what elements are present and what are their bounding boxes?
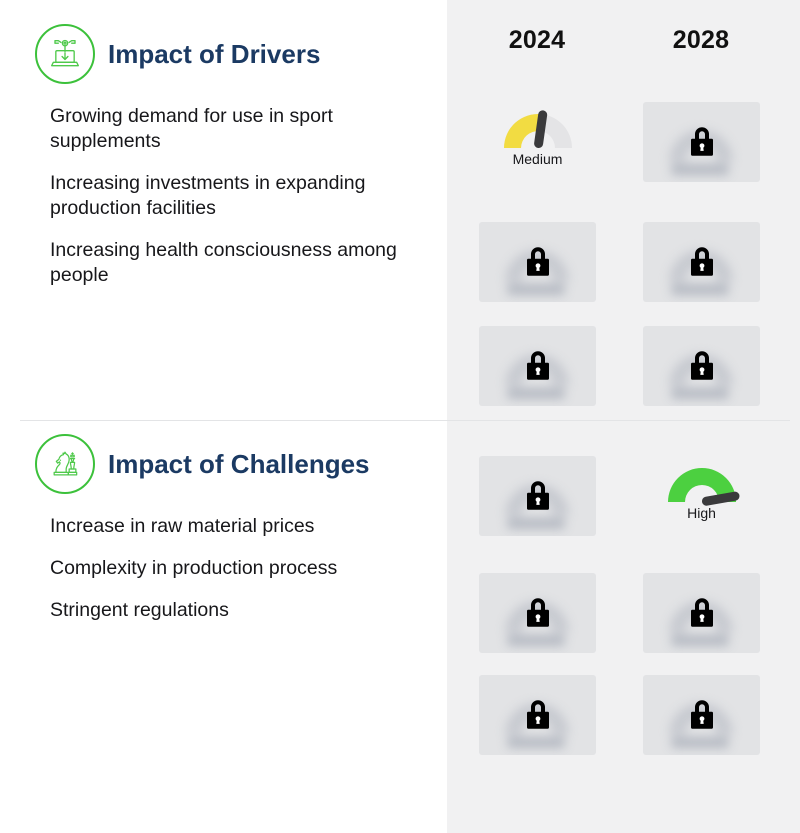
section-divider — [20, 420, 790, 421]
lock-icon — [685, 593, 719, 631]
list-item: Stringent regulations — [50, 598, 405, 623]
gauge-medium: Medium — [479, 102, 596, 182]
cell-drivers-2-2024[interactable] — [479, 326, 596, 406]
production-download-icon — [35, 24, 95, 84]
gauge-high: High — [643, 456, 760, 536]
list-item: Growing demand for use in sport suppleme… — [50, 104, 405, 154]
cell-drivers-0-2024[interactable]: Medium — [479, 102, 596, 182]
locked-cell[interactable] — [643, 102, 760, 182]
column-header-2028: 2028 — [641, 26, 761, 55]
locked-cell[interactable] — [479, 222, 596, 302]
section-drivers: Impact of Drivers Growing demand for use… — [0, 18, 447, 305]
lock-icon — [521, 593, 555, 631]
chess-pieces-icon — [35, 434, 95, 494]
locked-cell[interactable] — [479, 456, 596, 536]
cell-drivers-1-2024[interactable] — [479, 222, 596, 302]
locked-cell[interactable] — [643, 675, 760, 755]
cell-challenges-2-2024[interactable] — [479, 675, 596, 755]
gauge-value-label: Medium — [513, 151, 563, 167]
cell-challenges-1-2024[interactable] — [479, 573, 596, 653]
section-header-challenges: Impact of Challenges — [0, 428, 447, 500]
locked-cell[interactable] — [643, 573, 760, 653]
locked-cell[interactable] — [643, 326, 760, 406]
locked-cell[interactable] — [479, 326, 596, 406]
lock-icon — [521, 476, 555, 514]
cell-challenges-2-2028[interactable] — [643, 675, 760, 755]
lock-icon — [521, 242, 555, 280]
list-item: Complexity in production process — [50, 556, 405, 581]
lock-icon — [521, 346, 555, 384]
section-challenges: Impact of Challenges Increase in raw mat… — [0, 428, 447, 640]
list-item: Increase in raw material prices — [50, 514, 405, 539]
lock-icon — [685, 695, 719, 733]
lock-icon — [685, 242, 719, 280]
cell-drivers-1-2028[interactable] — [643, 222, 760, 302]
section-title-challenges: Impact of Challenges — [108, 449, 370, 480]
locked-cell[interactable] — [643, 222, 760, 302]
cell-challenges-1-2028[interactable] — [643, 573, 760, 653]
challenge-list: Increase in raw material prices Complexi… — [0, 514, 447, 623]
cell-challenges-0-2028[interactable]: High — [643, 456, 760, 536]
lock-icon — [685, 346, 719, 384]
locked-cell[interactable] — [479, 675, 596, 755]
section-header-drivers: Impact of Drivers — [0, 18, 447, 90]
locked-cell[interactable] — [479, 573, 596, 653]
section-title-drivers: Impact of Drivers — [108, 39, 320, 70]
list-item: Increasing investments in expanding prod… — [50, 171, 405, 221]
lock-icon — [521, 695, 555, 733]
cell-drivers-2-2028[interactable] — [643, 326, 760, 406]
column-header-2024: 2024 — [477, 26, 597, 55]
driver-list: Growing demand for use in sport suppleme… — [0, 104, 447, 288]
cell-drivers-0-2028[interactable] — [643, 102, 760, 182]
lock-icon — [685, 122, 719, 160]
gauge-value-label: High — [687, 505, 716, 521]
cell-challenges-0-2024[interactable] — [479, 456, 596, 536]
list-item: Increasing health consciousness among pe… — [50, 238, 405, 288]
